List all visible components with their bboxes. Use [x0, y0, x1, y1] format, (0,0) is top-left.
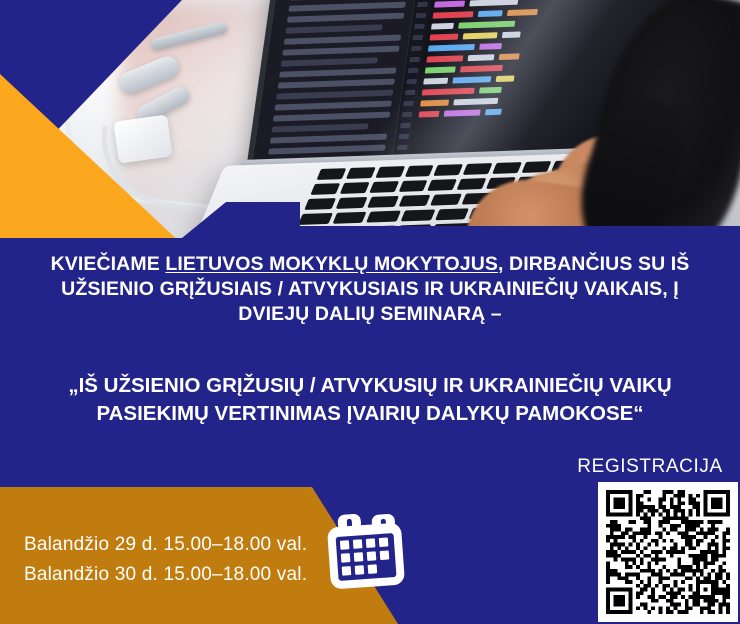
- seminar-title: „IŠ UŽSIENIO GRĮŽUSIŲ / ATVYKUSIŲ IR UKR…: [0, 372, 740, 428]
- date-line-1: Balandžio 29 d. 15.00–18.00 val.: [24, 530, 307, 560]
- headline: KVIEČIAME LIETUVOS MOKYKLŲ MOKYTOJUS, DI…: [0, 252, 740, 327]
- seminar-poster: KVIEČIAME LIETUVOS MOKYKLŲ MOKYTOJUS, DI…: [0, 0, 740, 624]
- headline-underlined: LIETUVOS MOKYKLŲ MOKYTOJUS: [165, 253, 498, 275]
- headline-prefix: KVIEČIAME: [51, 253, 166, 275]
- registration-label: REGISTRACIJA: [560, 456, 740, 478]
- qr-code-canvas: [606, 490, 730, 614]
- qr-code-icon[interactable]: [598, 482, 738, 622]
- calendar-icon: [324, 508, 408, 596]
- dates-block: Balandžio 29 d. 15.00–18.00 val. Balandž…: [24, 530, 307, 590]
- date-line-2: Balandžio 30 d. 15.00–18.00 val.: [24, 560, 307, 590]
